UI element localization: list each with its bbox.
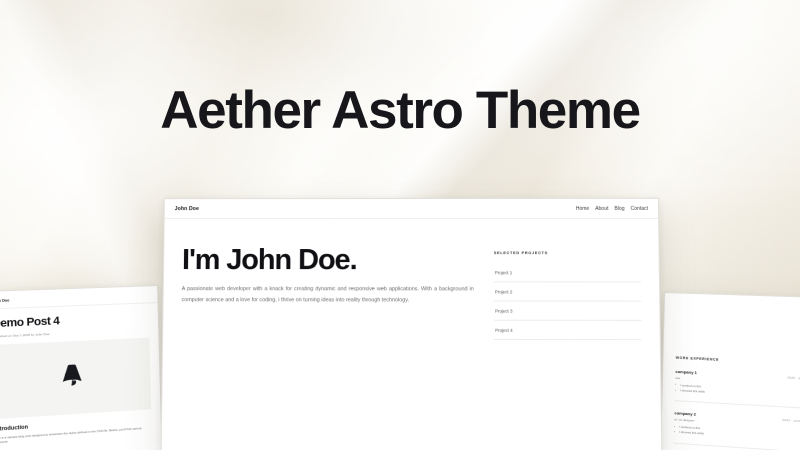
nav-link-contact[interactable]: Contact (631, 205, 648, 211)
job-entry: company 2 2022 - present ui / ux designe… (674, 411, 800, 450)
job-company: company 1 (675, 369, 697, 375)
selected-projects-column: SELECTED PROJECTS Project 1 Project 2 Pr… (494, 245, 642, 340)
site-nav: Home About Blog Contact (576, 205, 648, 211)
nav-link-blog[interactable]: Blog (614, 205, 624, 211)
selected-projects-heading: SELECTED PROJECTS (494, 250, 641, 255)
job-bullet-list: I worked on this I showed this skills (675, 382, 800, 400)
intro-column: I'm John Doe. A passionate web developer… (181, 245, 474, 340)
job-company: company 2 (674, 411, 696, 417)
work-experience-content: WORK EXPERIENCE company 1 2020 - 2022 ro… (660, 293, 800, 450)
project-list-item[interactable]: Project 2 (494, 282, 641, 301)
astro-logo-icon (59, 363, 87, 392)
portfolio-home-panel[interactable]: John Doe Home About Blog Contact I'm Joh… (161, 198, 663, 450)
project-list-item[interactable]: Project 4 (494, 321, 642, 340)
nav-link-home[interactable]: Home (576, 205, 589, 211)
job-dates: 2020 - 2022 (787, 375, 800, 380)
blog-post-title: Demo Post 4 (0, 311, 149, 330)
job-divider (674, 442, 800, 450)
blog-post-hero-image (0, 338, 151, 420)
work-experience-panel[interactable]: WORK EXPERIENCE company 1 2020 - 2022 ro… (660, 292, 800, 450)
nav-link-about[interactable]: About (595, 205, 608, 211)
job-entry: company 1 2020 - 2022 role I worked on t… (675, 369, 800, 409)
project-list-item[interactable]: Project 3 (494, 301, 641, 320)
panel-stage: John Doe Demo Post 4 Published on Sep 1 … (0, 0, 800, 450)
job-dates: 2022 - present (782, 418, 800, 424)
job-divider (675, 400, 800, 409)
blog-post-content: Demo Post 4 Published on Sep 1 2025 by J… (0, 303, 162, 450)
work-experience-heading: WORK EXPERIENCE (676, 356, 800, 366)
project-list-item[interactable]: Project 1 (494, 263, 641, 282)
site-brand[interactable]: John Doe (175, 206, 199, 212)
intro-heading: I'm John Doe. (182, 245, 474, 276)
blog-post-panel[interactable]: John Doe Demo Post 4 Published on Sep 1 … (0, 285, 163, 450)
site-header: John Doe Home About Blog Contact (165, 199, 659, 219)
home-body: I'm John Doe. A passionate web developer… (163, 219, 660, 340)
intro-bio: A passionate web developer with a knack … (181, 285, 473, 306)
blog-post-meta: Published on Sep 1 2025 by John Doe (0, 328, 149, 339)
